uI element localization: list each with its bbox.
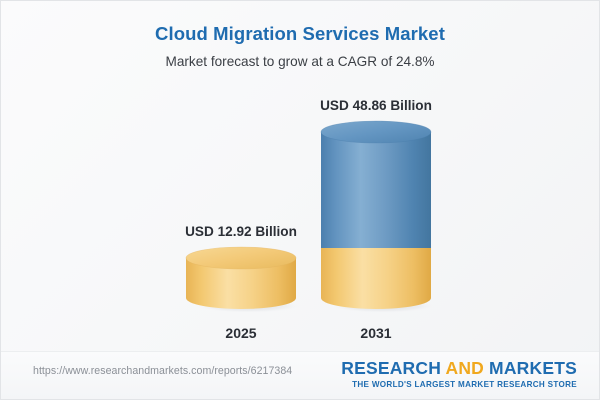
source-url[interactable]: https://www.researchandmarkets.com/repor… bbox=[33, 365, 292, 377]
chart-plot-area: USD 12.92 Billion bbox=[1, 1, 600, 353]
bar-category-label-2025: 2025 bbox=[225, 325, 256, 341]
footer-bar: https://www.researchandmarkets.com/repor… bbox=[1, 351, 600, 399]
brand-name-part2: MARKETS bbox=[484, 358, 577, 378]
brand-tagline: THE WORLD'S LARGEST MARKET RESEARCH STOR… bbox=[341, 380, 577, 389]
bar-value-label-2025: USD 12.92 Billion bbox=[185, 224, 297, 239]
bar-value-label-2031: USD 48.86 Billion bbox=[320, 98, 432, 113]
bar-category-label-2031: 2031 bbox=[360, 325, 391, 341]
brand-logo: RESEARCH AND MARKETS THE WORLD'S LARGEST… bbox=[341, 359, 577, 389]
infographic-card: Cloud Migration Services Market Market f… bbox=[0, 0, 600, 400]
brand-name-and: AND bbox=[445, 358, 484, 378]
cylinder-bar-2025[interactable] bbox=[186, 247, 296, 309]
brand-name: RESEARCH AND MARKETS bbox=[341, 359, 577, 377]
brand-name-part1: RESEARCH bbox=[341, 358, 445, 378]
cylinder-bar-2031[interactable] bbox=[321, 121, 431, 309]
